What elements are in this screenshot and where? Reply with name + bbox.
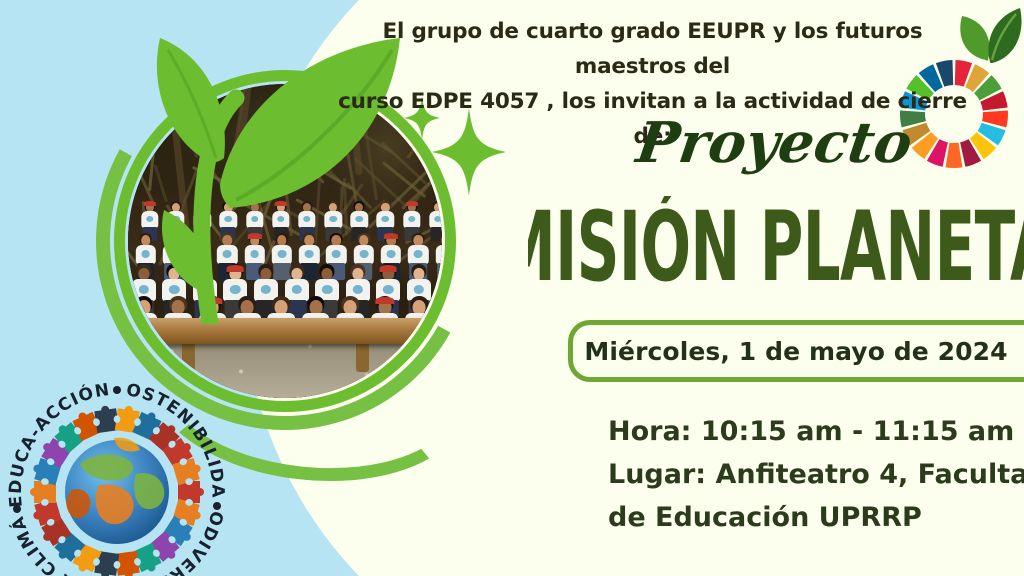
- event-time: Hora: 10:15 am - 11:15 am: [608, 410, 1024, 453]
- headline-line-1: El grupo de cuarto grado EEUPR y los fut…: [330, 14, 975, 84]
- poster-canvas: El grupo de cuarto grado EEUPR y los fut…: [0, 0, 1024, 576]
- event-details: Hora: 10:15 am - 11:15 am Lugar: Anfitea…: [608, 410, 1024, 539]
- event-place-line-2: de Educación UPRRP: [608, 496, 1024, 539]
- event-place-line-1: Lugar: Anfiteatro 4, Facultad: [608, 453, 1024, 496]
- svg-text:Proyecto: Proyecto: [631, 110, 917, 176]
- emblem-logo: EDUCA-ACCIÓN SOSTENIBILIDAD BIODIVERSIDA…: [6, 378, 228, 576]
- svg-text:MISIÓN PLANETA: MISIÓN PLANETA: [528, 196, 1024, 300]
- event-date: Miércoles, 1 de mayo de 2024: [568, 320, 1024, 382]
- logo-separator-dot: [113, 386, 121, 394]
- page-title: MISIÓN PLANETA: [528, 196, 1024, 300]
- logo-separator-dot: [213, 502, 221, 510]
- logo-separator-dot: [13, 505, 21, 513]
- title-script-word: Proyecto: [598, 104, 918, 182]
